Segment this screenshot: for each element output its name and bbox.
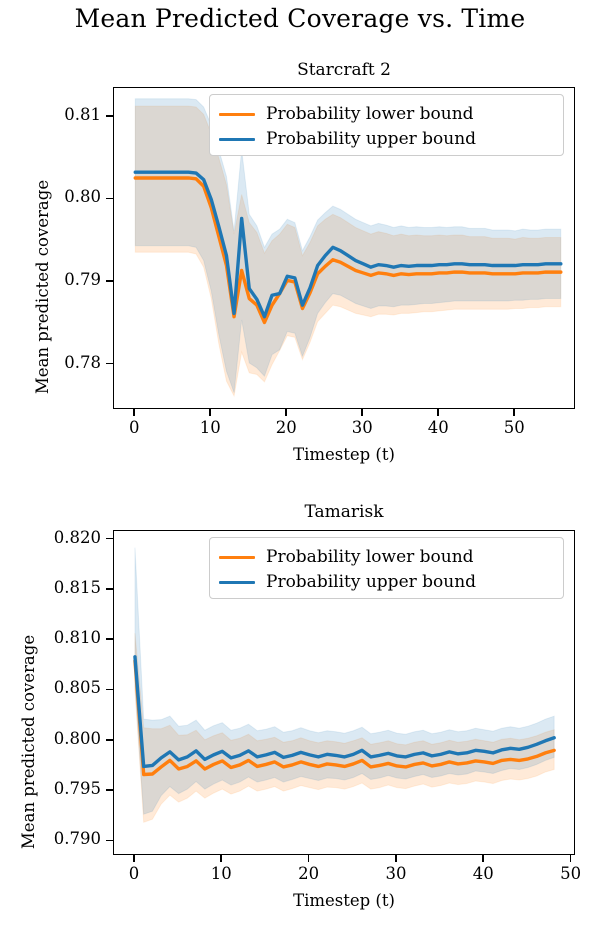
x-tick-label: 10 <box>180 418 240 437</box>
figure-root: Mean Predicted Coverage vs. Time Starcra… <box>0 0 600 932</box>
x-tick-label: 30 <box>366 864 426 883</box>
legend-item-lower-bound[interactable]: Probability lower bound <box>219 545 553 570</box>
y-tick-mark <box>106 280 113 282</box>
legend-label-upper-bound: Probability upper bound <box>266 131 476 148</box>
subplot-title-starcraft-2: Starcraft 2 <box>113 60 575 80</box>
x-tick-label: 20 <box>256 418 316 437</box>
x-tick-mark <box>361 409 363 416</box>
y-tick-mark <box>106 198 113 200</box>
y-tick-mark <box>106 840 113 842</box>
x-axis-label-bottom: Timestep (t) <box>113 891 575 910</box>
y-tick-mark <box>106 689 113 691</box>
legend-swatch-upper-bound <box>219 581 255 585</box>
legend-item-upper-bound[interactable]: Probability upper bound <box>219 570 553 595</box>
y-tick-mark <box>106 115 113 117</box>
subplot-tamarisk: Tamarisk Mean predicted coverage 0.7900.… <box>0 497 600 932</box>
x-tick-label: 50 <box>541 864 600 883</box>
legend-label-lower-bound: Probability lower bound <box>266 106 474 123</box>
x-tick-mark <box>395 855 397 862</box>
x-tick-mark <box>133 855 135 862</box>
y-tick-mark <box>106 588 113 590</box>
subplot-title-tamarisk: Tamarisk <box>113 502 575 522</box>
legend-item-lower-bound[interactable]: Probability lower bound <box>219 102 553 127</box>
y-tick-mark <box>106 739 113 741</box>
x-tick-label: 40 <box>408 418 468 437</box>
y-tick-label: 0.81 <box>3 105 101 124</box>
x-tick-mark <box>482 855 484 862</box>
x-tick-label: 30 <box>332 418 392 437</box>
subplot-starcraft-2: Starcraft 2 Mean predicted coverage 0.78… <box>0 55 600 475</box>
x-tick-label: 0 <box>104 418 164 437</box>
y-tick-label: 0.810 <box>3 628 101 647</box>
legend-swatch-upper-bound <box>219 138 255 142</box>
y-tick-label: 0.815 <box>3 578 101 597</box>
x-tick-mark <box>209 409 211 416</box>
x-tick-mark <box>308 855 310 862</box>
legend-label-lower-bound: Probability lower bound <box>266 549 474 566</box>
y-tick-mark <box>106 363 113 365</box>
y-tick-label: 0.78 <box>3 353 101 372</box>
x-tick-label: 10 <box>191 864 251 883</box>
y-tick-label: 0.820 <box>3 528 101 547</box>
legend-starcraft-2[interactable]: Probability lower bound Probability uppe… <box>209 94 564 156</box>
figure-title: Mean Predicted Coverage vs. Time <box>0 4 600 33</box>
legend-item-upper-bound[interactable]: Probability upper bound <box>219 127 553 152</box>
y-tick-label: 0.79 <box>3 270 101 289</box>
legend-label-upper-bound: Probability upper bound <box>266 574 476 591</box>
x-tick-mark <box>133 409 135 416</box>
x-tick-label: 20 <box>279 864 339 883</box>
x-tick-label: 50 <box>484 418 544 437</box>
y-tick-mark <box>106 538 113 540</box>
x-tick-mark <box>285 409 287 416</box>
x-tick-mark <box>570 855 572 862</box>
x-tick-label: 0 <box>104 864 164 883</box>
y-tick-label: 0.790 <box>3 829 101 848</box>
y-tick-mark <box>106 789 113 791</box>
y-tick-label: 0.795 <box>3 779 101 798</box>
legend-swatch-lower-bound <box>219 556 255 560</box>
x-tick-label: 40 <box>453 864 513 883</box>
legend-tamarisk[interactable]: Probability lower bound Probability uppe… <box>209 537 564 599</box>
x-tick-mark <box>513 409 515 416</box>
x-tick-mark <box>437 409 439 416</box>
y-tick-label: 0.805 <box>3 678 101 697</box>
x-tick-mark <box>220 855 222 862</box>
y-tick-label: 0.800 <box>3 729 101 748</box>
x-axis-label-top: Timestep (t) <box>113 445 575 464</box>
y-tick-mark <box>106 638 113 640</box>
y-tick-label: 0.80 <box>3 187 101 206</box>
legend-swatch-lower-bound <box>219 113 255 117</box>
